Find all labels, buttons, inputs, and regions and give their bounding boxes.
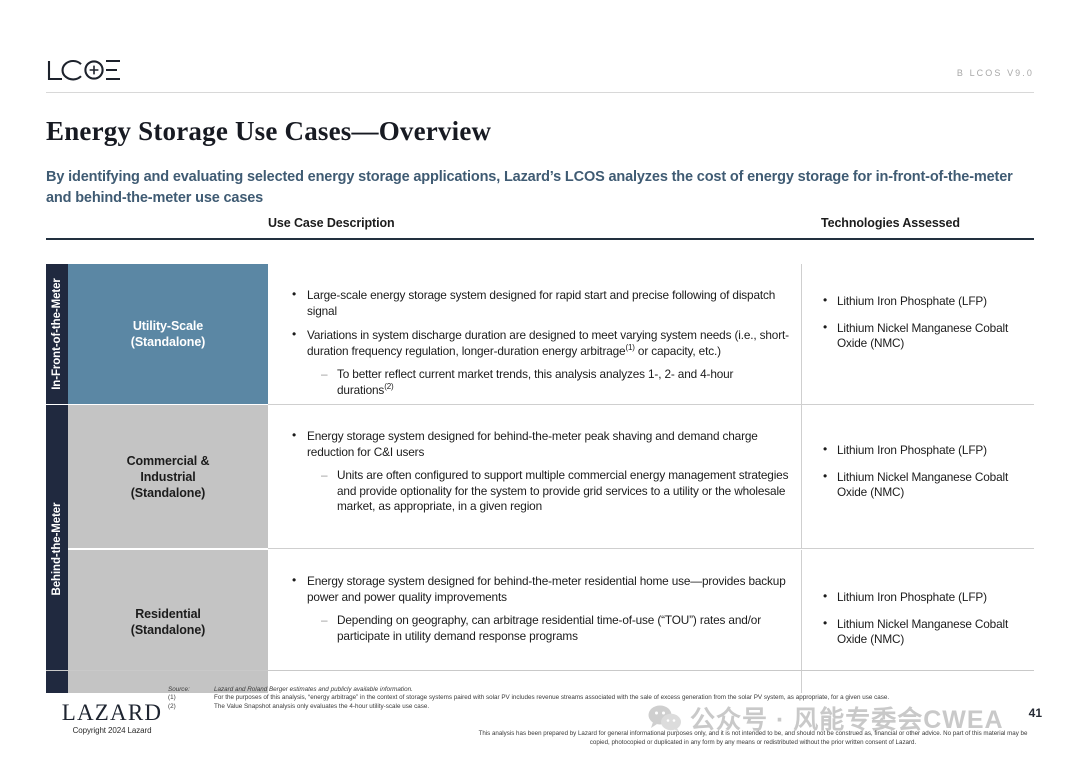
page-subtitle: By identifying and evaluating selected e…: [46, 167, 1021, 209]
description-cell: Large-scale energy storage system design…: [268, 264, 802, 404]
footnote-label: Source:: [168, 686, 214, 694]
use-case-qualifier: (Standalone): [131, 486, 206, 500]
disclaimer-text: This analysis has been prepared by Lazar…: [470, 730, 1036, 747]
list-item: Units are often configured to support mu…: [321, 468, 789, 515]
lazard-wordmark: LAZARD: [46, 701, 178, 725]
page-number: 41: [1029, 706, 1042, 720]
footnote-text: For the purposes of this analysis, “ener…: [214, 694, 1034, 702]
use-case-cell-commercial-industrial: Commercial & Industrial (Standalone): [68, 405, 268, 548]
category-band-label: Behind-the-Meter: [51, 503, 63, 596]
category-band-behind-the-meter: Behind-the-Meter: [46, 405, 68, 693]
use-case-cell-residential: Residential (Standalone): [68, 550, 268, 693]
list-item: Energy storage system designed for behin…: [290, 429, 789, 515]
footnote-1: (1) For the purposes of this analysis, “…: [168, 694, 1034, 702]
list-item: Lithium Iron Phosphate (LFP): [820, 443, 1028, 459]
use-cases-table: Use Case Description Technologies Assess…: [46, 216, 1034, 693]
description-bullet-list: Energy storage system designed for behin…: [290, 574, 789, 644]
behind-the-meter-group: Behind-the-Meter Commercial & Industrial…: [46, 405, 1034, 693]
bullet-text: Energy storage system designed for behin…: [307, 574, 786, 604]
footnote-source: Source: Lazard and Roland Berger estimat…: [168, 686, 1034, 694]
technologies-cell: Lithium Iron Phosphate (LFP) Lithium Nic…: [802, 405, 1034, 548]
footnote-marker: (2): [384, 382, 393, 391]
page-header: B LCOS V9.0: [46, 56, 1034, 92]
list-item: Energy storage system designed for behin…: [290, 574, 789, 644]
column-header-use-case-description: Use Case Description: [268, 216, 395, 230]
use-case-qualifier: (Standalone): [131, 623, 206, 637]
list-item: Lithium Iron Phosphate (LFP): [820, 294, 1028, 310]
technologies-cell: Lithium Iron Phosphate (LFP) Lithium Nic…: [802, 264, 1034, 404]
list-item: Lithium Iron Phosphate (LFP): [820, 590, 1028, 606]
footnote-text: Lazard and Roland Berger estimates and p…: [214, 686, 1034, 694]
use-case-name-2: Industrial: [140, 470, 195, 484]
page-title: Energy Storage Use Cases—Overview: [46, 116, 491, 147]
use-case-qualifier: (Standalone): [131, 335, 206, 349]
bullet-text-tail: or capacity, etc.): [635, 344, 721, 358]
list-item: Lithium Nickel Manganese Cobalt Oxide (N…: [820, 321, 1028, 352]
footnotes: Source: Lazard and Roland Berger estimat…: [168, 686, 1034, 711]
list-item: Large-scale energy storage system design…: [290, 288, 789, 319]
technologies-cell: Lithium Iron Phosphate (LFP) Lithium Nic…: [802, 550, 1034, 693]
header-rule: [46, 92, 1034, 93]
footnote-text: The Value Snapshot analysis only evaluat…: [214, 703, 1034, 711]
copyright-text: Copyright 2024 Lazard: [46, 726, 178, 735]
table-row: Residential (Standalone) Energy storage …: [68, 550, 1034, 693]
column-header-technologies-assessed: Technologies Assessed: [821, 216, 960, 230]
technologies-list: Lithium Iron Phosphate (LFP) Lithium Nic…: [820, 590, 1028, 648]
table-body: In-Front-of-the-Meter Utility-Scale (Sta…: [46, 264, 1034, 693]
list-item: Depending on geography, can arbitrage re…: [321, 613, 789, 644]
description-subbullet-list: Units are often configured to support mu…: [307, 468, 789, 515]
lazard-logo-block: LAZARD Copyright 2024 Lazard: [46, 701, 178, 735]
description-bullet-list: Energy storage system designed for behin…: [290, 429, 789, 515]
use-case-cell-utility-scale: Utility-Scale (Standalone): [68, 264, 268, 404]
description-cell: Energy storage system designed for behin…: [268, 550, 802, 693]
list-item: Lithium Nickel Manganese Cobalt Oxide (N…: [820, 617, 1028, 648]
category-band-label: In-Front-of-the-Meter: [51, 278, 63, 390]
row-divider: [268, 548, 1034, 549]
header-doc-label: B LCOS V9.0: [957, 68, 1034, 78]
technologies-list: Lithium Iron Phosphate (LFP) Lithium Nic…: [820, 443, 1028, 501]
table-header-rule: [46, 238, 1034, 240]
footnote-marker: (1): [625, 343, 634, 352]
category-band-in-front-of-the-meter: In-Front-of-the-Meter: [46, 264, 68, 404]
list-item: Lithium Nickel Manganese Cobalt Oxide (N…: [820, 470, 1028, 501]
footnote-2: (2) The Value Snapshot analysis only eva…: [168, 703, 1034, 711]
lcoe-logo: [46, 56, 124, 86]
table-row: In-Front-of-the-Meter Utility-Scale (Sta…: [46, 264, 1034, 404]
bullet-text: Energy storage system designed for behin…: [307, 429, 758, 459]
description-subbullet-list: To better reflect current market trends,…: [307, 367, 789, 398]
use-case-name: Residential: [135, 607, 201, 621]
list-item: To better reflect current market trends,…: [321, 367, 789, 398]
lcoe-plus-logo-icon: [46, 58, 124, 84]
technologies-list: Lithium Iron Phosphate (LFP) Lithium Nic…: [820, 294, 1028, 352]
description-subbullet-list: Depending on geography, can arbitrage re…: [307, 613, 789, 644]
use-case-name: Utility-Scale: [133, 319, 203, 333]
use-case-name: Commercial &: [127, 454, 210, 468]
subbullet-text: To better reflect current market trends,…: [337, 367, 733, 397]
table-bottom-rule: [46, 670, 1034, 671]
list-item: Variations in system discharge duration …: [290, 328, 789, 398]
description-bullet-list: Large-scale energy storage system design…: [290, 288, 789, 398]
table-row: Commercial & Industrial (Standalone) Ene…: [68, 405, 1034, 548]
description-cell: Energy storage system designed for behin…: [268, 405, 802, 548]
table-column-headers: Use Case Description Technologies Assess…: [46, 216, 1034, 238]
